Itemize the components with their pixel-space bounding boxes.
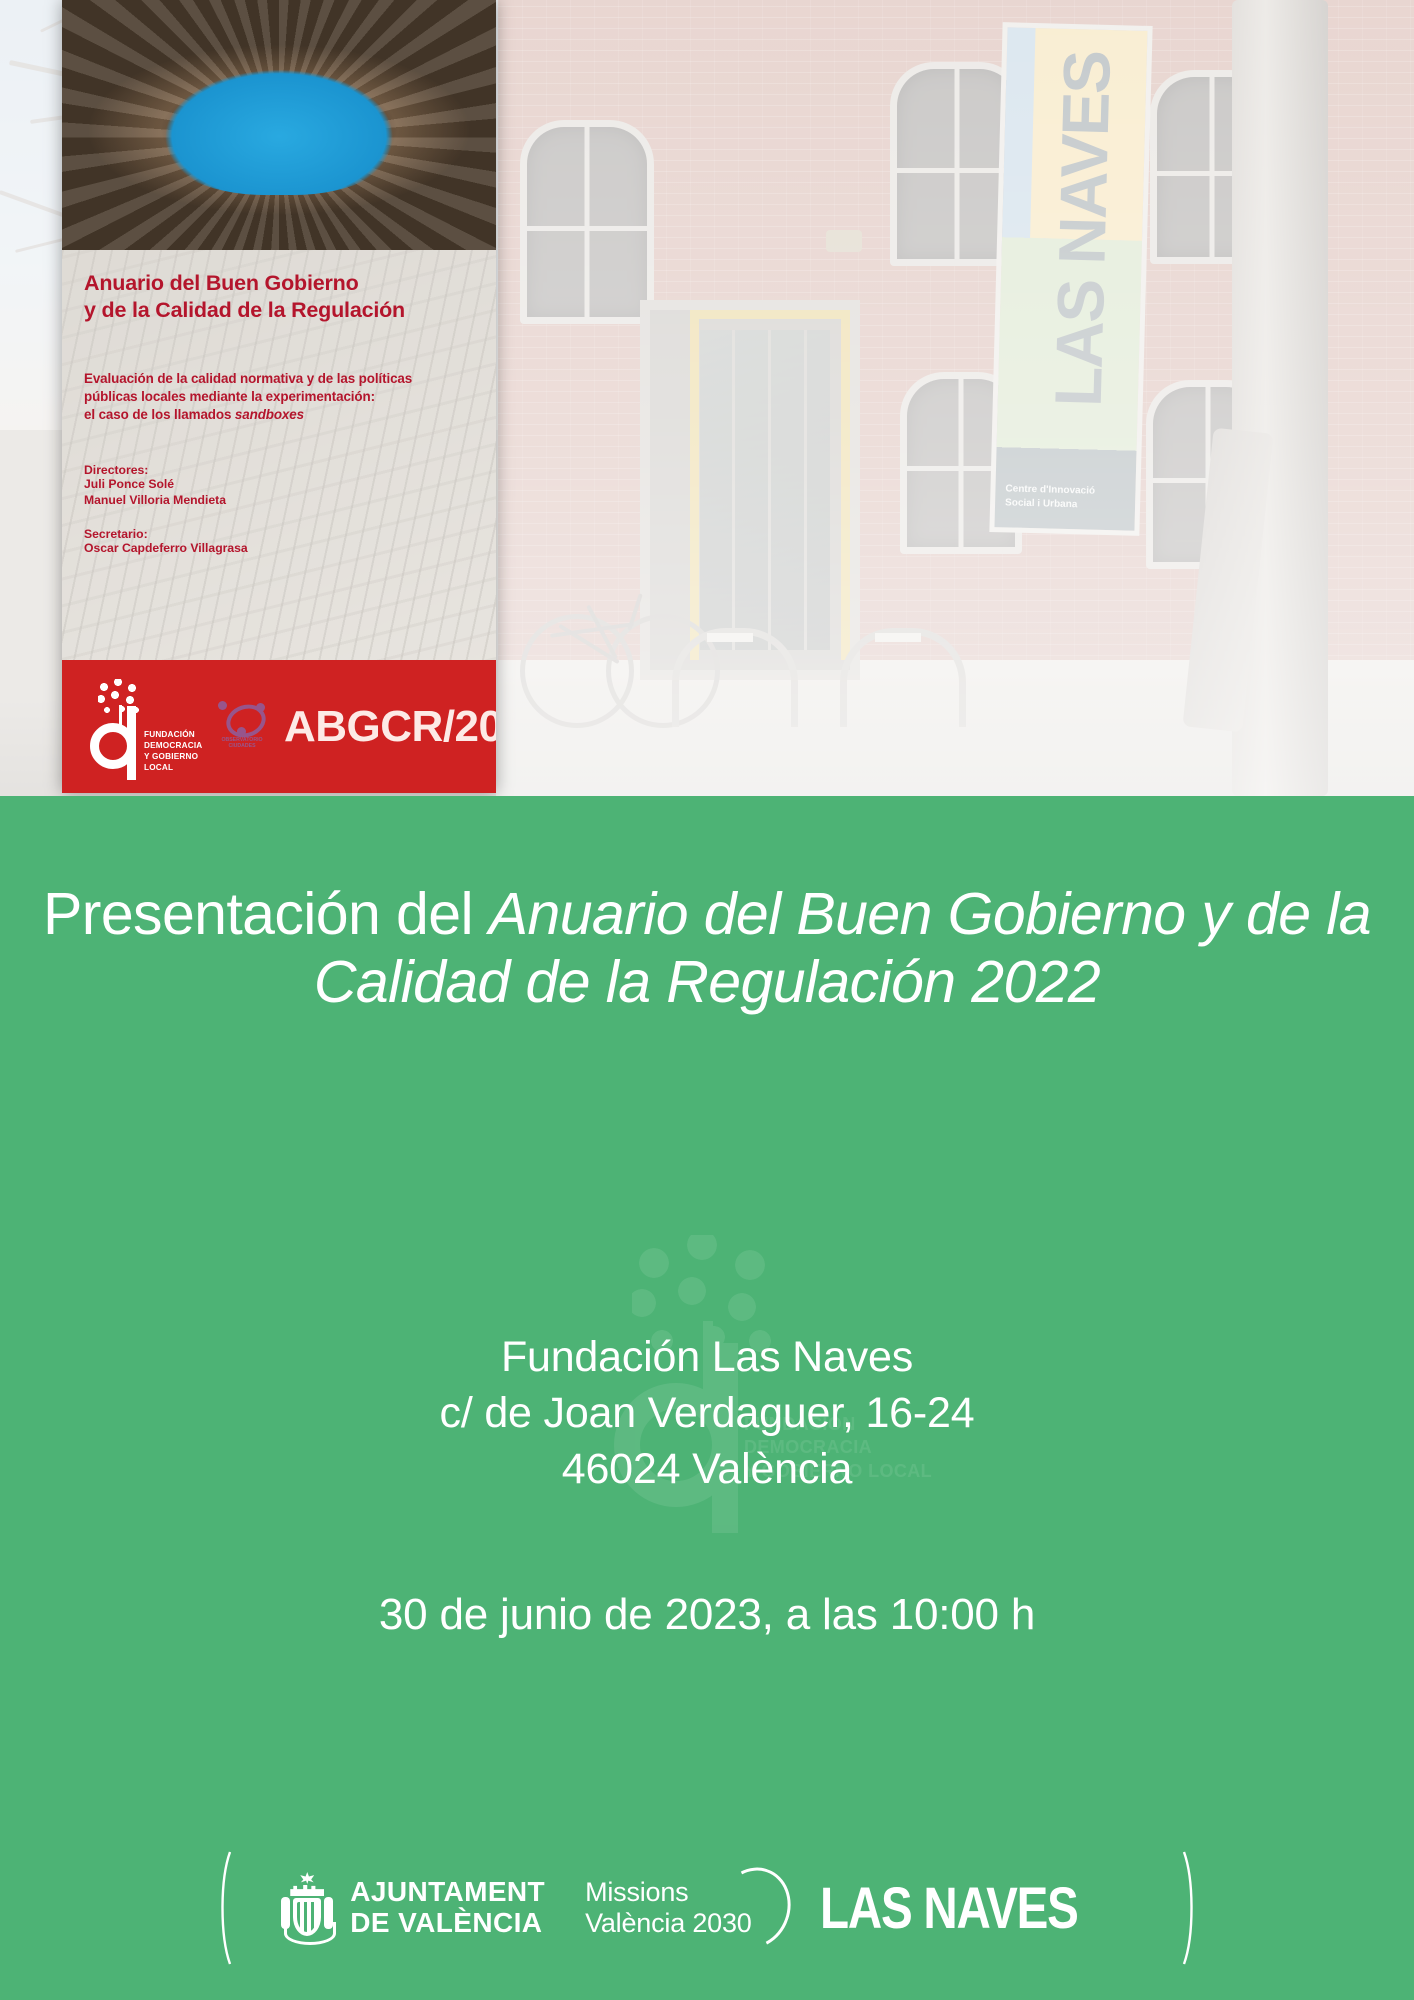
header-photo-banner: LAS NAVES Centre d'Innovació Social i Ur…	[0, 0, 1414, 796]
venue-name: Fundación Las Naves	[0, 1330, 1414, 1386]
bat-icon	[300, 1872, 314, 1884]
ajuntament-line-1: AJUNTAMENT	[350, 1877, 545, 1908]
book-director-1: Juli Ponce Solé	[84, 477, 474, 493]
book-directors-label: Directores:	[84, 463, 474, 477]
book-secretary-1: Oscar Capdeferro Villagrasa	[84, 541, 474, 557]
book-director-2: Manuel Villoria Mendieta	[84, 493, 474, 509]
book-subtitle-line-3: el caso de los llamados sandboxes	[84, 406, 474, 424]
book-cover: Anuario del Buen Gobierno y de la Calida…	[62, 0, 496, 793]
door-accent	[690, 310, 850, 319]
book-title-line-2: y de la Calidad de la Regulación	[84, 297, 474, 324]
vertical-banner-subtitle: Centre d'Innovació Social i Urbana	[1005, 482, 1126, 512]
footer-logo-bar: AJUNTAMENT DE VALÈNCIA Missions València…	[0, 1838, 1414, 1978]
ajuntament-text: AJUNTAMENT DE VALÈNCIA	[350, 1877, 545, 1939]
observatorio-partner-logo: OBSERVATORIO CIUDADES	[212, 699, 272, 755]
venue-block: Fundación Las Naves c/ de Joan Verdaguer…	[0, 1330, 1414, 1498]
d-monogram-icon	[90, 723, 136, 769]
book-subtitle-sandboxes: sandboxes	[235, 407, 304, 422]
book-cover-text-panel: Anuario del Buen Gobierno y de la Calida…	[62, 250, 496, 660]
vertical-banner-text: LAS NAVES	[1038, 22, 1126, 465]
event-datetime: 30 de junio de 2023, a las 10:00 h	[0, 1590, 1414, 1640]
entrance-door-glass	[700, 330, 830, 650]
venue-street: c/ de Joan Verdaguer, 16-24	[0, 1386, 1414, 1442]
arc-icon	[706, 1857, 802, 1959]
venue-city: 46024 València	[0, 1442, 1414, 1498]
missions-valencia-2030-logo: Missions València 2030	[585, 1877, 786, 1939]
wreath-icon	[284, 1922, 336, 1945]
book-cover-red-band: FUNDACIÓN DEMOCRACIA Y GOBIERNO LOCAL OB…	[62, 660, 496, 793]
book-cover-photo	[62, 0, 496, 250]
crown-icon	[290, 1885, 324, 1896]
fundacion-democracia-logo: FUNDACIÓN DEMOCRACIA Y GOBIERNO LOCAL	[82, 679, 202, 775]
left-bracket-icon	[216, 1850, 234, 1966]
ajuntament-de-valencia-logo: AJUNTAMENT DE VALÈNCIA	[278, 1869, 545, 1947]
street-tree	[1232, 0, 1328, 796]
bike-rack	[672, 628, 798, 727]
book-subtitle-line-1: Evaluación de la calidad normativa y de …	[84, 370, 474, 388]
book-subtitle-line-2: públicas locales mediante la experimenta…	[84, 388, 474, 406]
book-code: ABGCR/2022	[284, 702, 496, 752]
right-bracket-icon	[1180, 1850, 1198, 1966]
las-naves-vertical-banner: LAS NAVES Centre d'Innovació Social i Ur…	[989, 22, 1152, 536]
observatorio-logo-text: OBSERVATORIO CIUDADES	[212, 737, 272, 749]
title-prefix: Presentación del	[43, 881, 489, 947]
building-window	[520, 120, 654, 324]
ajuntament-line-2: DE VALÈNCIA	[350, 1908, 545, 1939]
fundacion-logo-text: FUNDACIÓN DEMOCRACIA Y GOBIERNO LOCAL	[144, 729, 202, 773]
door-accent	[841, 310, 850, 660]
wall-lamp	[826, 230, 862, 252]
book-subtitle-line-3-text: el caso de los llamados	[84, 407, 235, 422]
book-title-line-1: Anuario del Buen Gobierno	[84, 270, 474, 297]
valencia-coat-of-arms-icon	[278, 1869, 336, 1947]
poster-root: LAS NAVES Centre d'Innovació Social i Ur…	[0, 0, 1414, 2000]
page-title: Presentación del Anuario del Buen Gobier…	[0, 880, 1414, 1017]
las-naves-logo: LAS NAVES	[820, 1875, 1078, 1942]
bike-rack	[840, 628, 966, 727]
book-secretary-label: Secretario:	[84, 527, 474, 541]
